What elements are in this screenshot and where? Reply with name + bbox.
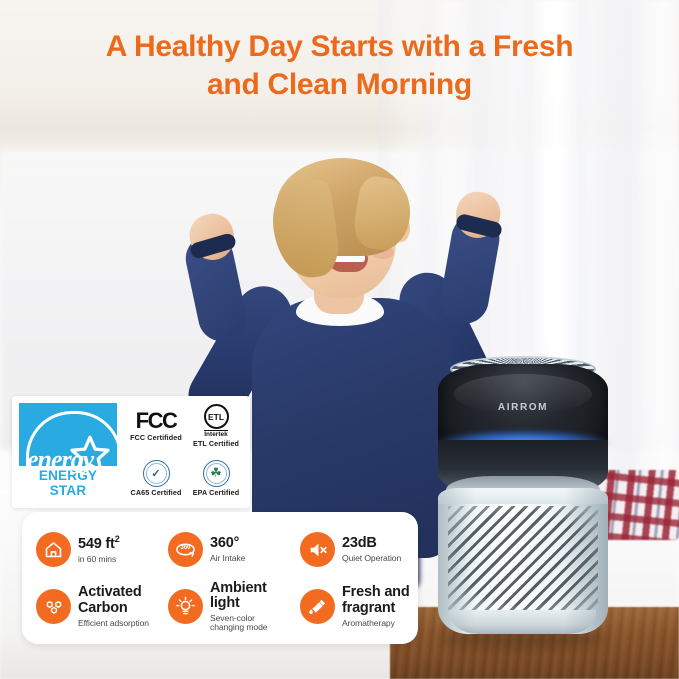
headline-line-2: and Clean Morning — [0, 66, 679, 104]
certification-badges: FCC FCC Certifided ETL Intertek ETL Cert… — [120, 400, 246, 504]
badge-epa: ☘ EPA Certified — [186, 452, 246, 504]
house-icon — [36, 532, 71, 567]
svg-text:360: 360 — [181, 545, 192, 551]
energy-star-logo: energy ENERGY STAR — [16, 400, 120, 504]
product-marketing-image: AIRROM A Healthy Day Starts with a Fresh… — [0, 0, 679, 679]
speaker-mute-icon — [300, 532, 335, 567]
badge-label: EPA Certified — [193, 488, 239, 497]
ca65-seal-icon: ✓ — [143, 460, 170, 487]
certification-block: energy ENERGY STAR FCC FCC Certifided ET… — [12, 396, 250, 508]
hair-fringe-left — [268, 178, 343, 282]
feature-subtitle: Air Intake — [210, 554, 245, 563]
epa-seal-icon: ☘ — [203, 460, 230, 487]
feature-title-2: Carbon — [78, 601, 149, 617]
feature-title: Fresh and — [342, 585, 410, 601]
feature-ambient-light: Ambient light Seven-color changing mode — [154, 579, 286, 634]
feature-subtitle: Aromatherapy — [342, 619, 410, 628]
badge-ca65: ✓ CA65 Certified — [126, 452, 186, 504]
feature-title: 23dB — [342, 536, 401, 552]
badge-label: FCC Certifided — [130, 433, 182, 442]
brand-logo: AIRROM — [438, 402, 608, 413]
feature-air-intake: 360 360° Air Intake — [154, 522, 286, 577]
headline: A Healthy Day Starts with a Fresh and Cl… — [0, 28, 679, 104]
feature-title: 360° — [210, 536, 245, 552]
etl-mark-icon: ETL Intertek — [204, 404, 229, 438]
feature-subtitle: Quiet Operation — [342, 554, 401, 563]
feature-subtitle-2: changing mode — [210, 623, 267, 632]
badge-label: CA65 Certified — [131, 488, 182, 497]
badge-label: ETL Certified — [193, 439, 239, 448]
air-purifier-product: AIRROM — [432, 356, 614, 646]
lightbulb-icon — [168, 589, 203, 624]
etl-sub-label: Intertek — [204, 430, 227, 438]
purifier-body — [438, 488, 608, 634]
feature-highlights-panel: 549 ft2 in 60 mins 360 360° Air Intake — [22, 512, 418, 644]
fcc-mark-icon: FCC — [136, 410, 177, 432]
feature-noise-level: 23dB Quiet Operation — [286, 522, 418, 577]
feature-title-2: light — [210, 596, 267, 612]
feature-title-2: fragrant — [342, 601, 410, 617]
feature-superscript: 2 — [115, 534, 120, 544]
badge-etl: ETL Intertek ETL Certified — [186, 400, 246, 452]
hair-fringe-right — [351, 174, 416, 254]
star-icon — [67, 433, 113, 479]
feature-title: 549 ft — [78, 536, 115, 552]
feature-aromatherapy: Fresh and fragrant Aromatherapy — [286, 579, 418, 634]
rotate-360-icon: 360 — [168, 532, 203, 567]
headline-line-1: A Healthy Day Starts with a Fresh — [106, 30, 573, 63]
feature-title: Activated — [78, 585, 149, 601]
honeycomb-icon — [36, 589, 71, 624]
feature-subtitle: in 60 mins — [78, 555, 120, 564]
dropper-icon — [300, 589, 335, 624]
feature-coverage-area: 549 ft2 in 60 mins — [22, 522, 154, 577]
feature-title: Ambient — [210, 581, 267, 597]
feature-subtitle: Efficient adsorption — [78, 619, 149, 628]
feature-activated-carbon: Activated Carbon Efficient adsorption — [22, 579, 154, 634]
badge-fcc: FCC FCC Certifided — [126, 400, 186, 452]
